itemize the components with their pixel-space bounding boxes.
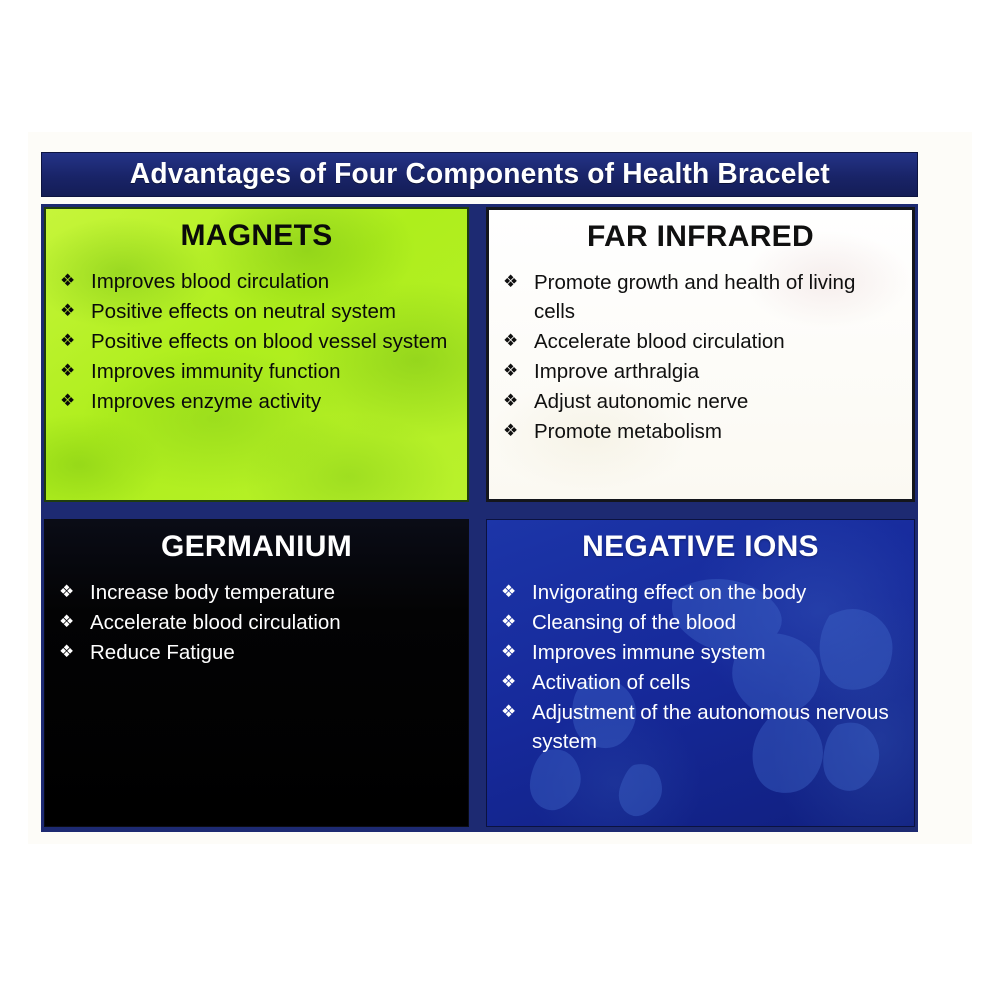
panel-heading-negative-ions: NEGATIVE IONS (501, 530, 900, 564)
diamond-bullet-icon: ❖ (59, 638, 90, 665)
page-title: Advantages of Four Components of Health … (129, 158, 829, 191)
list-item: ❖ Invigorating effect on the body (501, 578, 900, 607)
diamond-bullet-icon: ❖ (501, 638, 532, 665)
panel-heading-germanium: GERMANIUM (59, 530, 454, 564)
diamond-bullet-icon: ❖ (503, 268, 534, 295)
bullet-list-far-infrared: ❖ Promote growth and health of living ce… (503, 268, 898, 447)
list-item-label: Positive effects on blood vessel system (91, 327, 453, 356)
panel-heading-magnets: MAGNETS (60, 219, 453, 253)
bullet-list-magnets: ❖ Improves blood circulation ❖ Positive … (60, 267, 453, 417)
panel-far-infrared: FAR INFRARED ❖ Promote growth and health… (486, 207, 915, 502)
list-item-label: Adjustment of the autonomous nervous sys… (532, 698, 900, 756)
list-item: ❖ Improves enzyme activity (60, 387, 453, 416)
diamond-bullet-icon: ❖ (503, 357, 534, 384)
diamond-bullet-icon: ❖ (59, 578, 90, 605)
list-item: ❖ Promote growth and health of living ce… (503, 268, 898, 326)
panel-germanium: GERMANIUM ❖ Increase body temperature ❖ … (44, 519, 469, 827)
list-item-label: Improves blood circulation (91, 267, 453, 296)
diamond-bullet-icon: ❖ (501, 668, 532, 695)
list-item: ❖ Adjustment of the autonomous nervous s… (501, 698, 900, 756)
list-item: ❖ Cleansing of the blood (501, 608, 900, 637)
list-item-label: Reduce Fatigue (90, 638, 454, 667)
list-item: ❖ Positive effects on blood vessel syste… (60, 327, 453, 356)
diamond-bullet-icon: ❖ (503, 387, 534, 414)
list-item: ❖ Improves blood circulation (60, 267, 453, 296)
list-item-label: Increase body temperature (90, 578, 454, 607)
diamond-bullet-icon: ❖ (501, 578, 532, 605)
list-item: ❖ Positive effects on neutral system (60, 297, 453, 326)
panel-heading-far-infrared: FAR INFRARED (503, 220, 898, 254)
list-item-label: Accelerate blood circulation (90, 608, 454, 637)
diamond-bullet-icon: ❖ (501, 608, 532, 635)
list-item-label: Cleansing of the blood (532, 608, 900, 637)
list-item: ❖ Adjust autonomic nerve (503, 387, 898, 416)
list-item: ❖ Reduce Fatigue (59, 638, 454, 667)
list-item: ❖ Improve arthralgia (503, 357, 898, 386)
list-item: ❖ Accelerate blood circulation (59, 608, 454, 637)
list-item-label: Adjust autonomic nerve (534, 387, 898, 416)
list-item: ❖ Activation of cells (501, 668, 900, 697)
list-item: ❖ Increase body temperature (59, 578, 454, 607)
diamond-bullet-icon: ❖ (59, 608, 90, 635)
list-item-label: Invigorating effect on the body (532, 578, 900, 607)
diamond-bullet-icon: ❖ (60, 357, 91, 384)
bullet-list-germanium: ❖ Increase body temperature ❖ Accelerate… (59, 578, 454, 667)
list-item-label: Activation of cells (532, 668, 900, 697)
diamond-bullet-icon: ❖ (60, 387, 91, 414)
list-item: ❖ Accelerate blood circulation (503, 327, 898, 356)
diamond-bullet-icon: ❖ (501, 698, 532, 725)
diamond-bullet-icon: ❖ (60, 297, 91, 324)
list-item: ❖ Improves immunity function (60, 357, 453, 386)
infographic-title-bar: Advantages of Four Components of Health … (41, 152, 918, 197)
diamond-bullet-icon: ❖ (60, 327, 91, 354)
list-item-label: Improves immune system (532, 638, 900, 667)
list-item-label: Promote metabolism (534, 417, 898, 446)
bullet-list-negative-ions: ❖ Invigorating effect on the body ❖ Clea… (501, 578, 900, 757)
infographic-canvas: Advantages of Four Components of Health … (0, 0, 1000, 999)
list-item-label: Accelerate blood circulation (534, 327, 898, 356)
list-item-label: Improves enzyme activity (91, 387, 453, 416)
list-item-label: Improve arthralgia (534, 357, 898, 386)
diamond-bullet-icon: ❖ (503, 327, 534, 354)
list-item-label: Positive effects on neutral system (91, 297, 453, 326)
diamond-bullet-icon: ❖ (60, 267, 91, 294)
panel-negative-ions: NEGATIVE IONS ❖ Invigorating effect on t… (486, 519, 915, 827)
diamond-bullet-icon: ❖ (503, 417, 534, 444)
list-item-label: Improves immunity function (91, 357, 453, 386)
list-item: ❖ Improves immune system (501, 638, 900, 667)
list-item-label: Promote growth and health of living cell… (534, 268, 898, 326)
panel-magnets: MAGNETS ❖ Improves blood circulation ❖ P… (44, 207, 469, 502)
list-item: ❖ Promote metabolism (503, 417, 898, 446)
